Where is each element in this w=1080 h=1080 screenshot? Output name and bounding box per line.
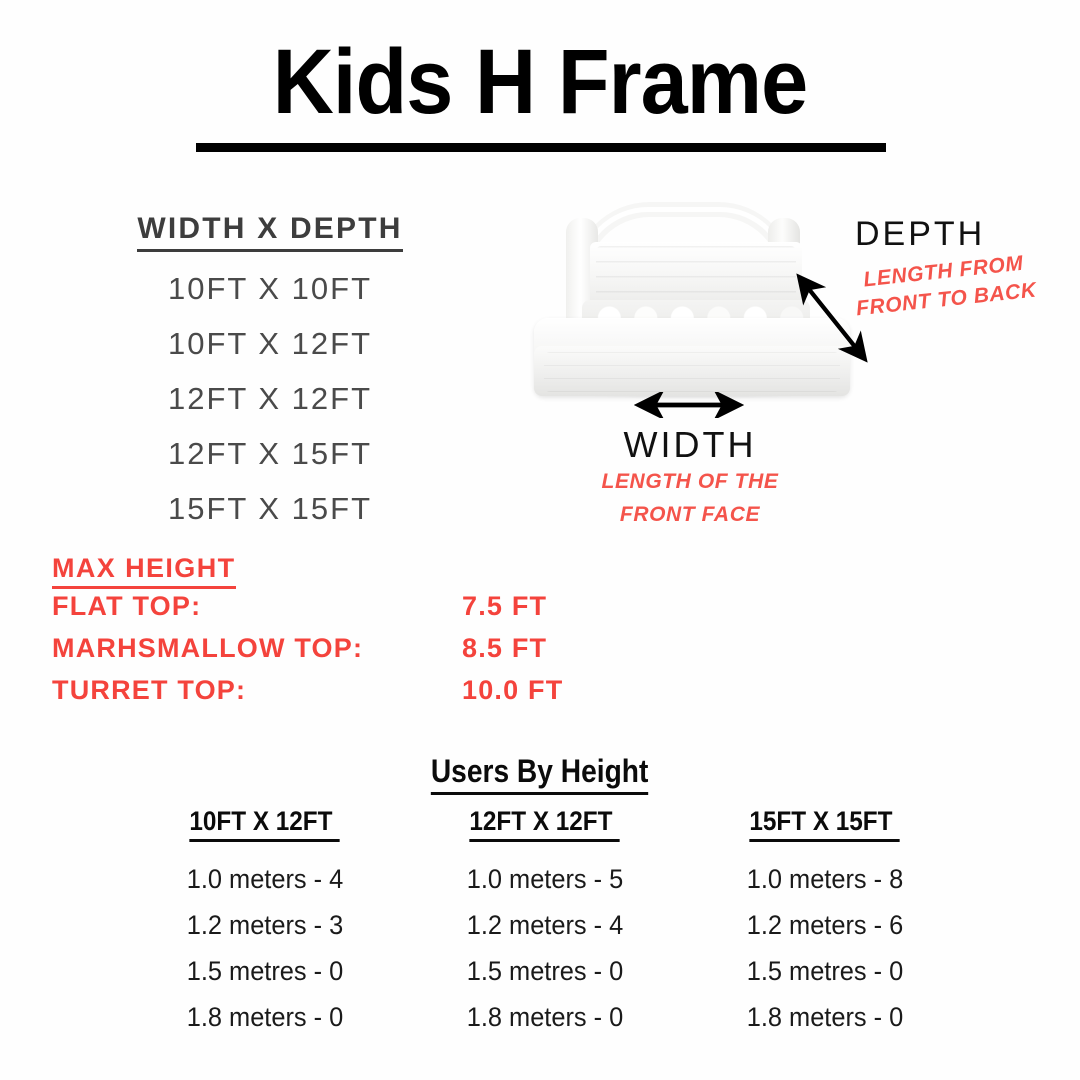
max-height-label: TURRET TOP: bbox=[52, 675, 246, 706]
width-depth-item: 10FT X 12FT bbox=[60, 326, 480, 362]
users-row: 1.5 metres - 0 bbox=[717, 956, 933, 987]
users-row: 1.0 meters - 8 bbox=[717, 864, 933, 895]
users-row: 1.2 meters - 6 bbox=[717, 910, 933, 941]
width-depth-item: 10FT X 10FT bbox=[60, 271, 480, 307]
users-row: 1.5 metres - 0 bbox=[157, 956, 373, 987]
users-column-header-wrap: 15FT X 15FT bbox=[710, 806, 940, 842]
users-row: 1.0 meters - 5 bbox=[437, 864, 653, 895]
width-arrow-icon bbox=[628, 392, 750, 423]
width-depth-item: 12FT X 15FT bbox=[60, 436, 480, 472]
width-description-line2: FRONT FACE bbox=[552, 499, 828, 532]
users-row: 1.0 meters - 4 bbox=[157, 864, 373, 895]
users-column: 15FT X 15FT 1.0 meters - 8 1.2 meters - … bbox=[710, 806, 940, 1033]
max-height-row: MARHSMALLOW TOP: 8.5 FT bbox=[52, 633, 672, 673]
users-row: 1.8 meters - 0 bbox=[437, 1002, 653, 1033]
depth-label: DEPTH bbox=[855, 215, 985, 254]
page-title-underline bbox=[196, 143, 886, 152]
width-label: WIDTH bbox=[560, 424, 820, 466]
users-row: 1.2 meters - 3 bbox=[157, 910, 373, 941]
users-column-header-wrap: 10FT X 12FT bbox=[150, 806, 380, 842]
users-row: 1.5 metres - 0 bbox=[437, 956, 653, 987]
users-column-header: 12FT X 12FT bbox=[470, 806, 620, 842]
users-column-header: 10FT X 12FT bbox=[190, 806, 340, 842]
max-height-row: TURRET TOP: 10.0 FT bbox=[52, 675, 672, 715]
max-height-section: MAX HEIGHT FLAT TOP: 7.5 FT MARHSMALLOW … bbox=[52, 553, 672, 715]
users-column: 10FT X 12FT 1.0 meters - 4 1.2 meters - … bbox=[150, 806, 380, 1033]
width-depth-section: WIDTH X DEPTH 10FT X 10FT 10FT X 12FT 12… bbox=[60, 212, 480, 527]
users-by-height-heading: Users By Height bbox=[431, 753, 649, 795]
back-wall-seams bbox=[596, 246, 796, 308]
max-height-row: FLAT TOP: 7.5 FT bbox=[52, 591, 672, 631]
max-height-label: FLAT TOP: bbox=[52, 591, 201, 622]
max-height-heading: MAX HEIGHT bbox=[52, 553, 236, 589]
width-description: LENGTH OF THE FRONT FACE bbox=[552, 466, 828, 531]
max-height-value: 8.5 FT bbox=[462, 633, 547, 664]
max-height-heading-wrap: MAX HEIGHT bbox=[52, 553, 672, 589]
users-row: 1.2 meters - 4 bbox=[437, 910, 653, 941]
max-height-value: 10.0 FT bbox=[462, 675, 563, 706]
max-height-value: 7.5 FT bbox=[462, 591, 547, 622]
width-depth-heading-wrap: WIDTH X DEPTH bbox=[60, 212, 480, 252]
users-row: 1.8 meters - 0 bbox=[157, 1002, 373, 1033]
width-depth-item: 15FT X 15FT bbox=[60, 491, 480, 527]
max-height-label: MARHSMALLOW TOP: bbox=[52, 633, 363, 664]
users-by-height-heading-wrap: Users By Height bbox=[0, 753, 1080, 795]
users-by-height-table: 10FT X 12FT 1.0 meters - 4 1.2 meters - … bbox=[150, 806, 940, 1033]
page-title: Kids H Frame bbox=[43, 36, 1037, 128]
users-column-header: 15FT X 15FT bbox=[750, 806, 900, 842]
users-column-header-wrap: 12FT X 12FT bbox=[430, 806, 660, 842]
width-depth-item: 12FT X 12FT bbox=[60, 381, 480, 417]
users-row: 1.8 meters - 0 bbox=[717, 1002, 933, 1033]
width-depth-heading: WIDTH X DEPTH bbox=[137, 212, 402, 252]
users-column: 12FT X 12FT 1.0 meters - 5 1.2 meters - … bbox=[430, 806, 660, 1033]
width-description-line1: LENGTH OF THE bbox=[552, 466, 828, 499]
